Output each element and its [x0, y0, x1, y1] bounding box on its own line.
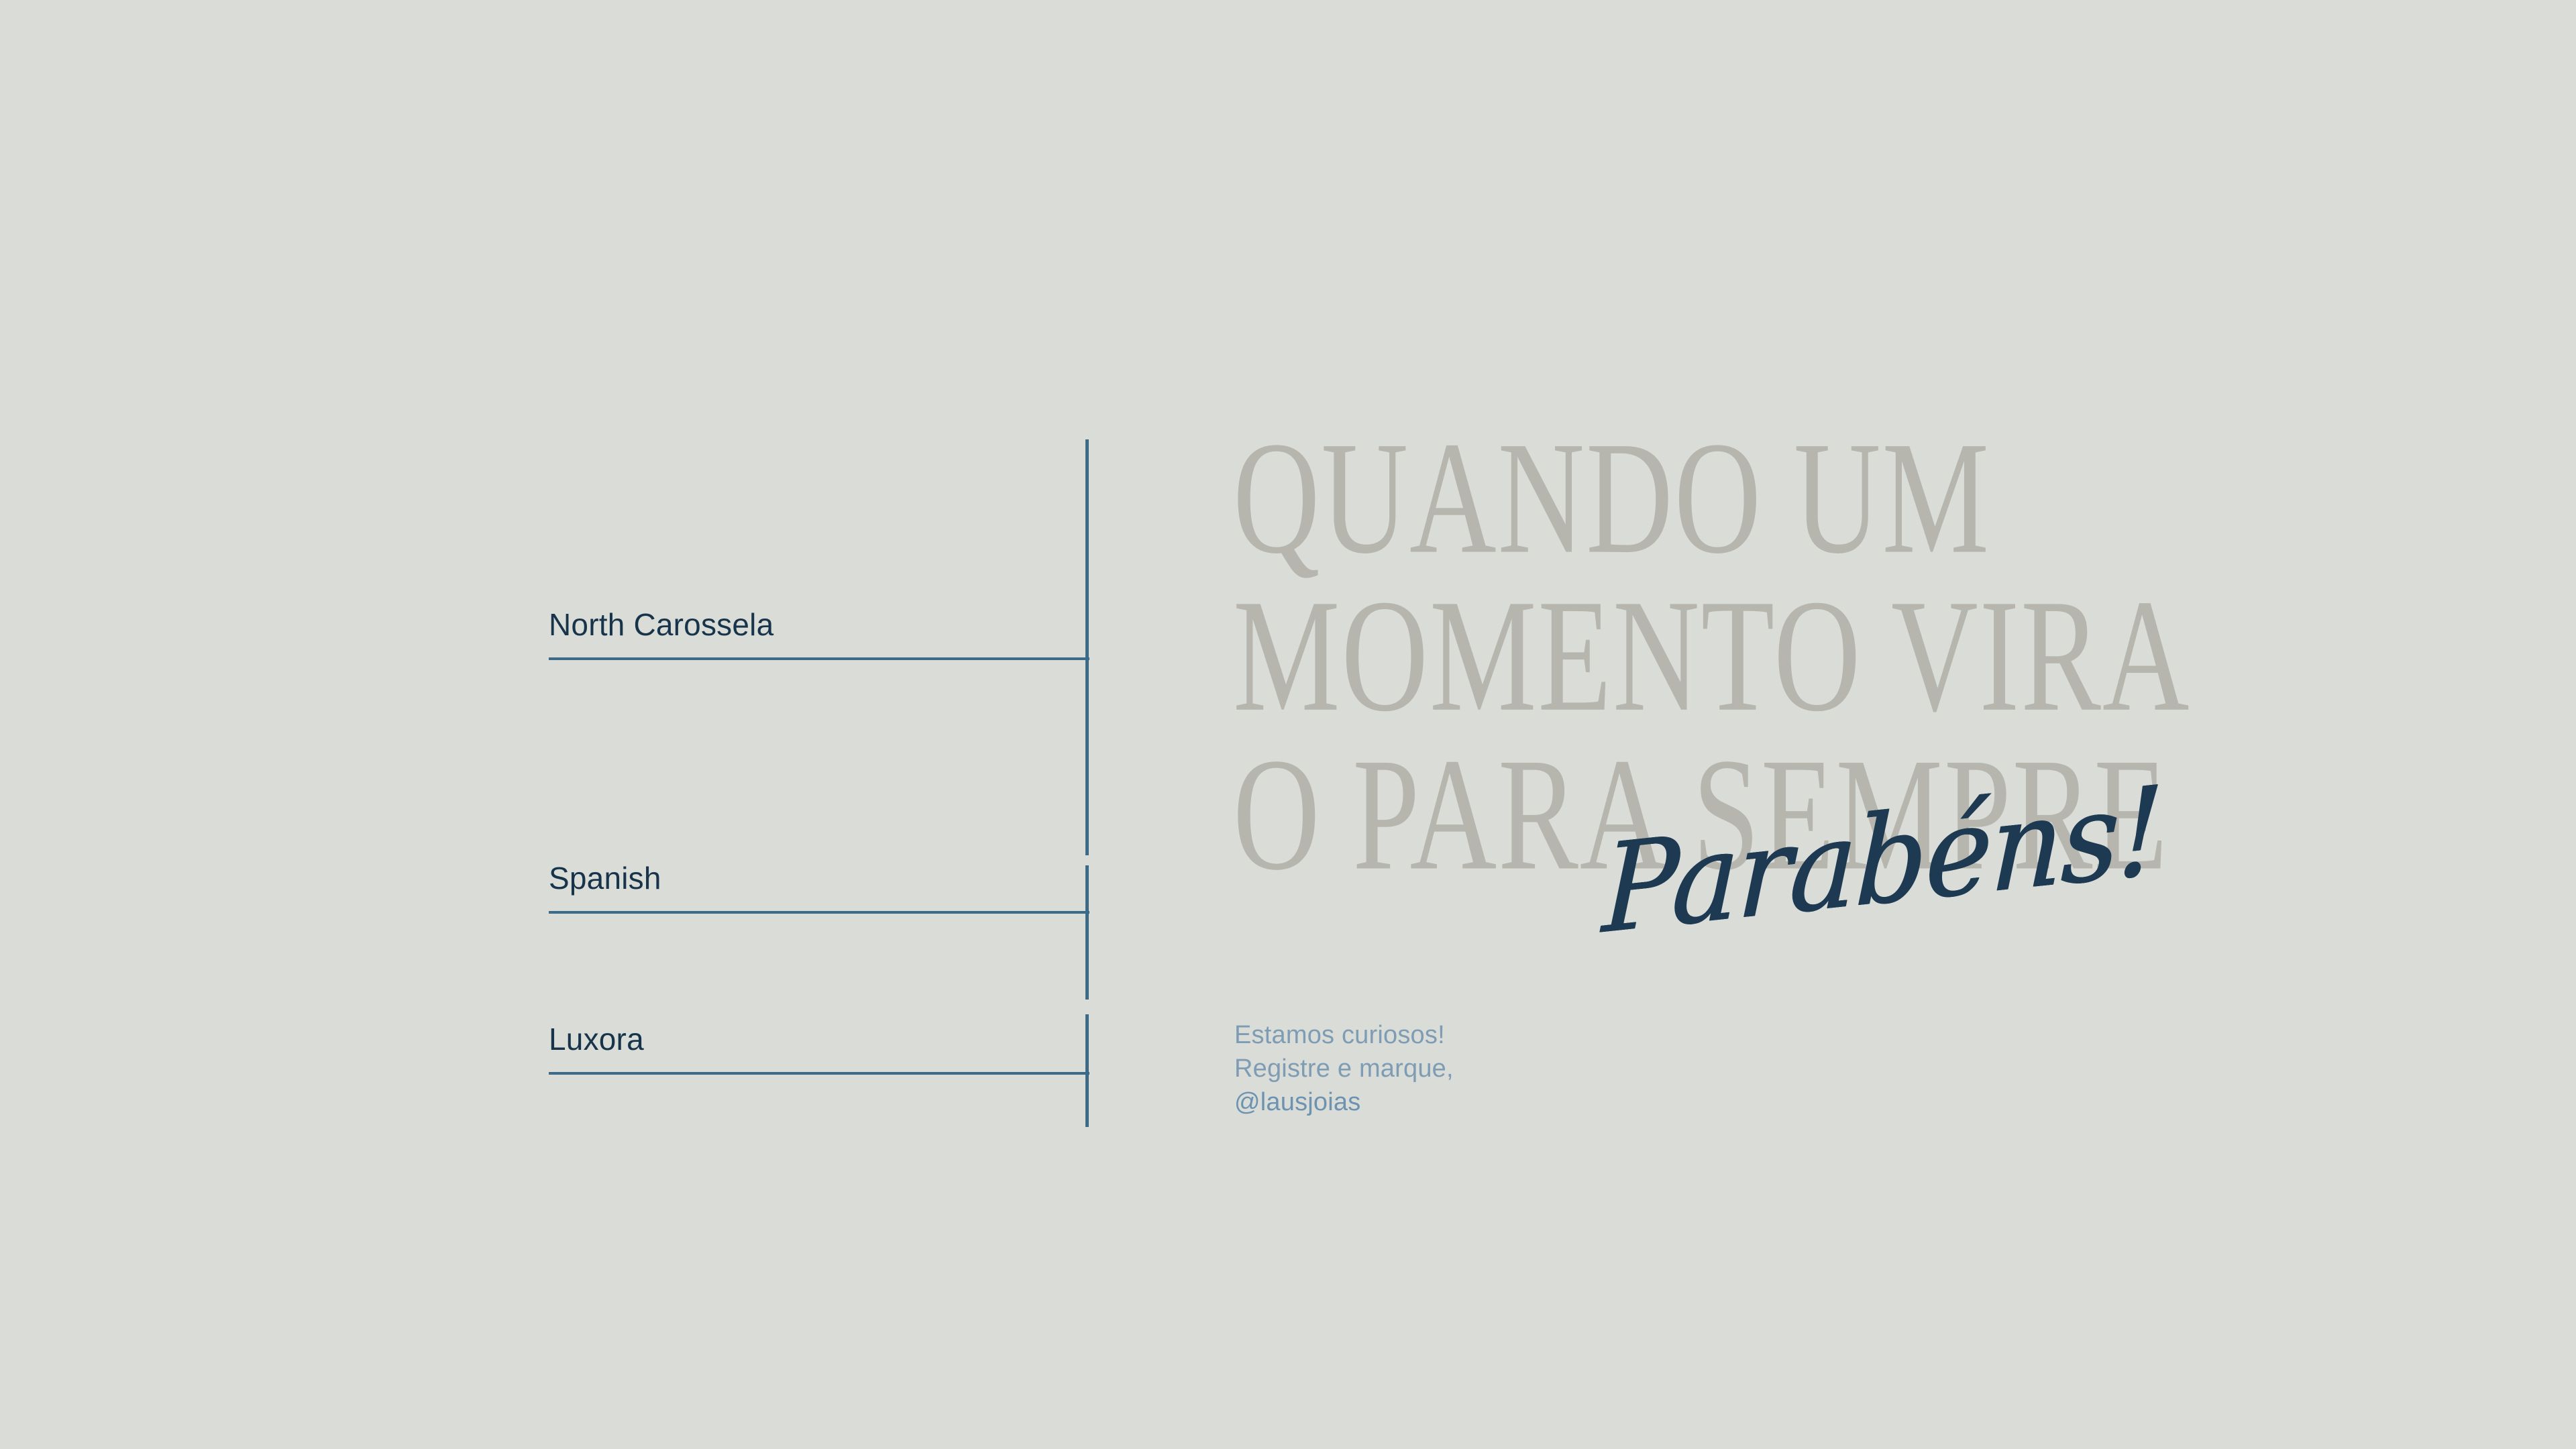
vertical-divider-segment	[1085, 439, 1089, 855]
cta-instagram-handle[interactable]: @lausjoias	[1234, 1085, 1454, 1119]
row-label-spanish: Spanish	[549, 860, 661, 896]
vertical-divider-segment	[1085, 1014, 1089, 1127]
cta-line-1: Estamos curiosos!	[1234, 1018, 1454, 1052]
row-underline	[549, 1072, 1089, 1075]
slide-canvas: North Carossela Spanish Luxora QUANDO UM…	[0, 0, 2576, 1449]
row-underline	[549, 911, 1089, 914]
cta-line-2: Registre e marque,	[1234, 1052, 1454, 1085]
headline-line-2: MOMENTO VIRA	[1233, 578, 2079, 736]
headline-line-1: QUANDO UM	[1233, 419, 2079, 578]
list-item[interactable]: Spanish	[549, 798, 1089, 914]
list-item[interactable]: North Carossela	[549, 578, 1089, 660]
row-label-north-carossela: North Carossela	[549, 606, 773, 643]
list-item[interactable]: Luxora	[549, 947, 1089, 1075]
cta-text-block: Estamos curiosos! Registre e marque, @la…	[1234, 1018, 1454, 1119]
vertical-divider-segment	[1085, 865, 1089, 1000]
row-underline	[549, 657, 1089, 660]
row-label-luxora: Luxora	[549, 1021, 644, 1057]
